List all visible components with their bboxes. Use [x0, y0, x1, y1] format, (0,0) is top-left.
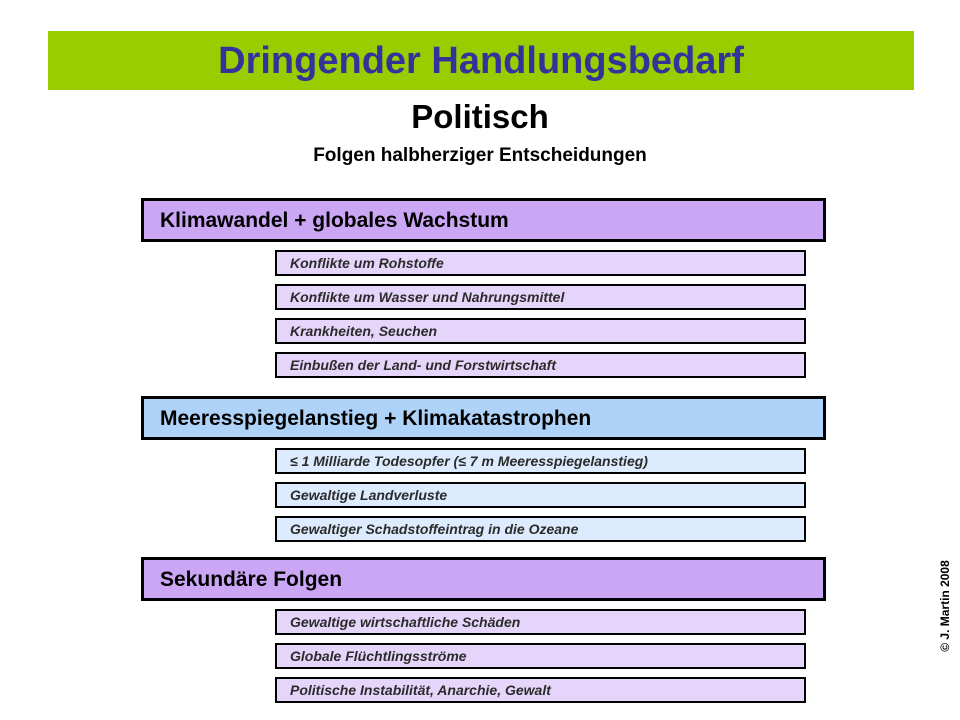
section-block: Meeresspiegelanstieg + Klimakatastrophen…: [0, 396, 960, 397]
page-title: Politisch: [0, 100, 960, 135]
copyright-text: © J. Martin 2008: [939, 560, 951, 652]
list-item-label: ≤ 1 Milliarde Todesopfer (≤ 7 m Meeressp…: [290, 454, 648, 468]
section-title: Klimawandel + globales Wachstum: [160, 210, 509, 231]
list-item-label: Einbußen der Land- und Forstwirtschaft: [290, 358, 556, 372]
list-item[interactable]: Gewaltige Landverluste: [275, 482, 806, 508]
section-item-list: ≤ 1 Milliarde Todesopfer (≤ 7 m Meeressp…: [275, 448, 806, 550]
list-item-label: Globale Flüchtlingsströme: [290, 649, 467, 663]
list-item[interactable]: Konflikte um Wasser und Nahrungsmittel: [275, 284, 806, 310]
list-item-label: Konflikte um Rohstoffe: [290, 256, 444, 270]
section-item-list: Konflikte um RohstoffeKonflikte um Wasse…: [275, 250, 806, 386]
page-subtitle: Folgen halbherziger Entscheidungen: [0, 146, 960, 166]
section-block: Klimawandel + globales WachstumKonflikte…: [0, 198, 960, 199]
section-header[interactable]: Sekundäre Folgen: [141, 557, 826, 601]
list-item[interactable]: Globale Flüchtlingsströme: [275, 643, 806, 669]
list-item[interactable]: Gewaltige wirtschaftliche Schäden: [275, 609, 806, 635]
list-item-label: Konflikte um Wasser und Nahrungsmittel: [290, 290, 564, 304]
list-item-label: Gewaltiger Schadstoffeintrag in die Ozea…: [290, 522, 578, 536]
section-title: Sekundäre Folgen: [160, 569, 342, 590]
list-item[interactable]: Gewaltiger Schadstoffeintrag in die Ozea…: [275, 516, 806, 542]
slide-title-banner: Dringender Handlungsbedarf: [48, 31, 914, 90]
list-item-label: Krankheiten, Seuchen: [290, 324, 437, 338]
list-item-label: Gewaltige Landverluste: [290, 488, 447, 502]
list-item[interactable]: Einbußen der Land- und Forstwirtschaft: [275, 352, 806, 378]
list-item-label: Politische Instabilität, Anarchie, Gewal…: [290, 683, 551, 697]
section-block: Sekundäre FolgenGewaltige wirtschaftlich…: [0, 557, 960, 558]
section-title: Meeresspiegelanstieg + Klimakatastrophen: [160, 408, 591, 429]
list-item[interactable]: Krankheiten, Seuchen: [275, 318, 806, 344]
section-header[interactable]: Klimawandel + globales Wachstum: [141, 198, 826, 242]
list-item[interactable]: Konflikte um Rohstoffe: [275, 250, 806, 276]
slide-banner-title: Dringender Handlungsbedarf: [218, 42, 744, 80]
section-item-list: Gewaltige wirtschaftliche SchädenGlobale…: [275, 609, 806, 711]
list-item[interactable]: ≤ 1 Milliarde Todesopfer (≤ 7 m Meeressp…: [275, 448, 806, 474]
list-item-label: Gewaltige wirtschaftliche Schäden: [290, 615, 520, 629]
list-item[interactable]: Politische Instabilität, Anarchie, Gewal…: [275, 677, 806, 703]
copyright-notice: © J. Martin 2008: [936, 600, 954, 718]
section-header[interactable]: Meeresspiegelanstieg + Klimakatastrophen: [141, 396, 826, 440]
